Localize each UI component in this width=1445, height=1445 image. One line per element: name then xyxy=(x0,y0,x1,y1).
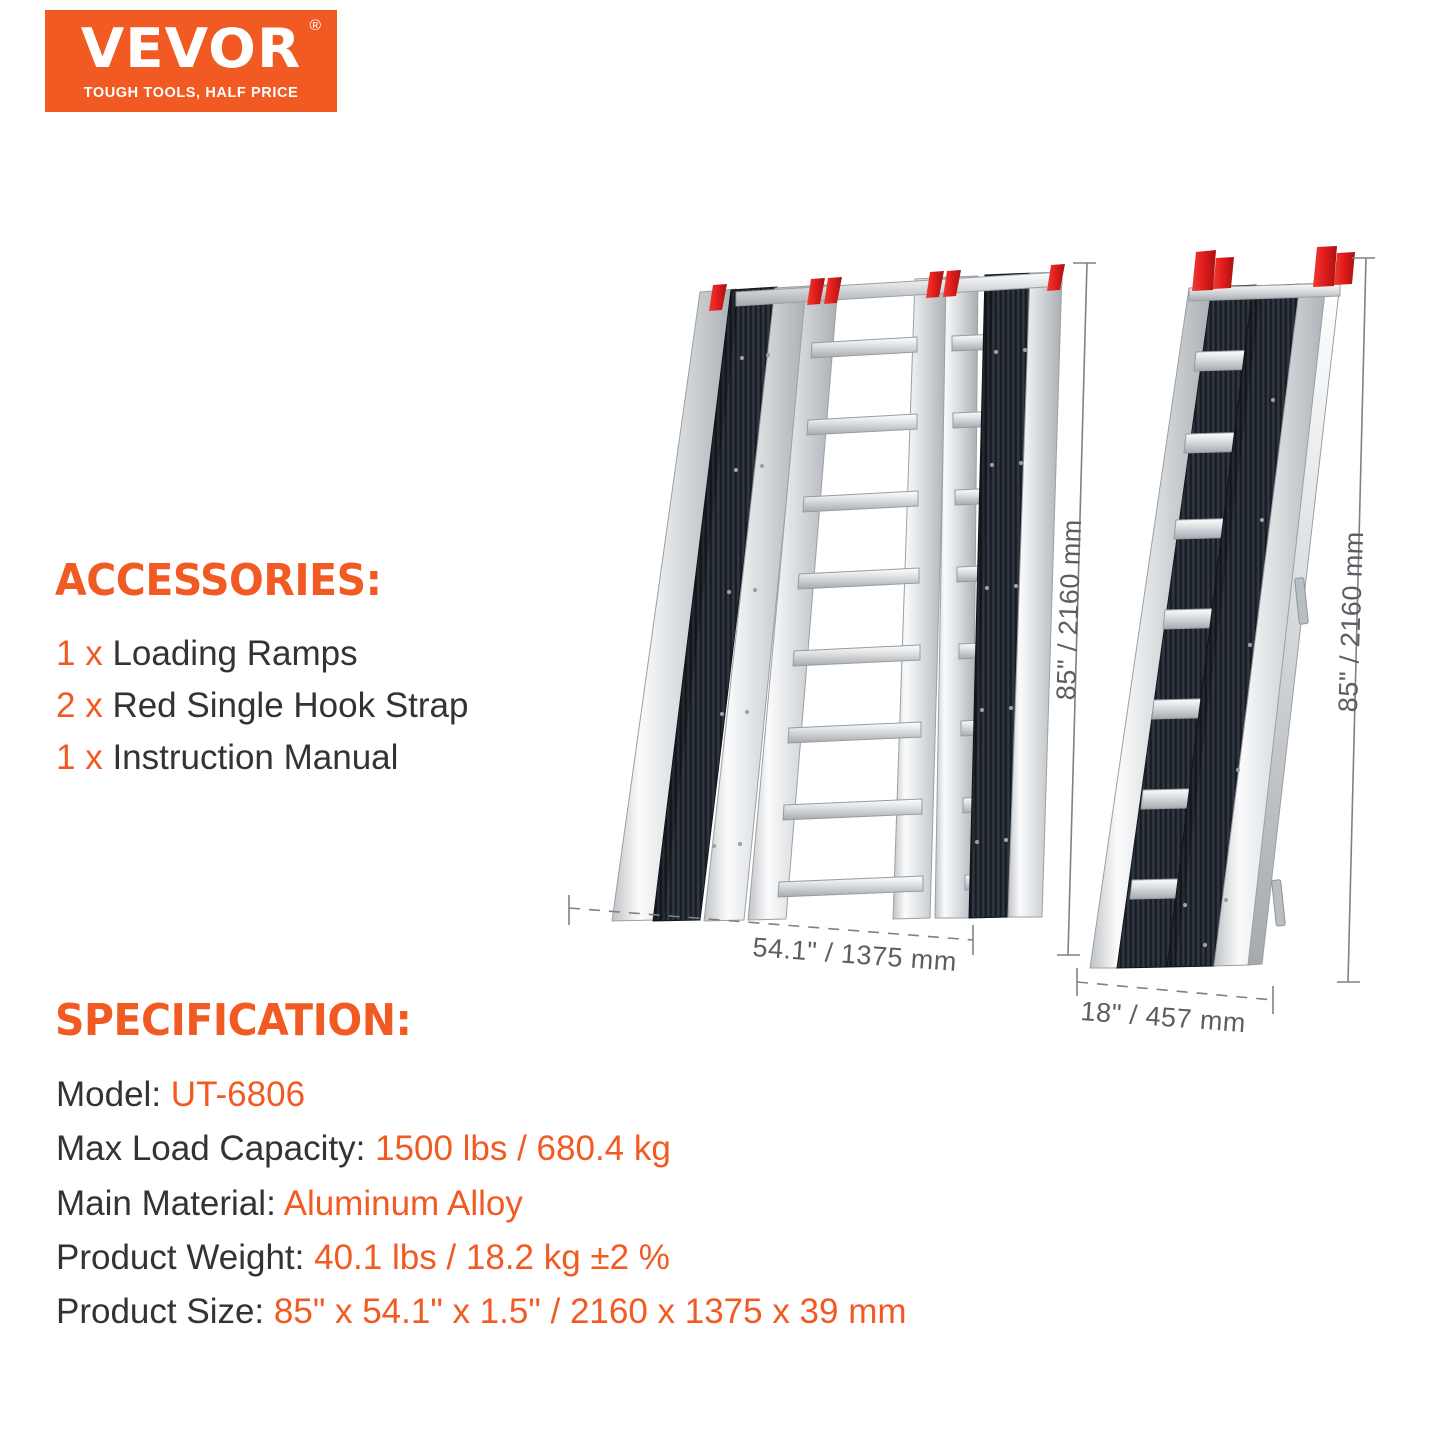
list-item: 1 x Loading Ramps xyxy=(56,628,676,680)
spec-label: Main Material: xyxy=(56,1184,276,1223)
spec-row: Model: UT-6806 xyxy=(56,1068,1156,1122)
spec-value: Aluminum Alloy xyxy=(284,1184,523,1223)
spec-row: Max Load Capacity: 1500 lbs / 680.4 kg xyxy=(56,1122,1156,1176)
folded-width-label: 18" / 457 mm xyxy=(1080,996,1247,1038)
accessories-heading: ACCESSORIES: xyxy=(55,555,382,606)
brand-name: VEVOR® xyxy=(81,22,301,76)
dimension-lines xyxy=(569,258,1375,1014)
spec-value: 1500 lbs / 680.4 kg xyxy=(375,1129,671,1168)
list-item: 1 x Instruction Manual xyxy=(56,732,676,784)
ramp-unfolded-view xyxy=(612,264,1065,921)
specification-list: Model: UT-6806 Max Load Capacity: 1500 l… xyxy=(56,1068,1156,1339)
accessory-name: Red Single Hook Strap xyxy=(112,686,468,725)
spec-row: Product Size: 85" x 54.1" x 1.5" / 2160 … xyxy=(56,1285,1156,1339)
spec-value: 40.1 lbs / 18.2 kg ±2 % xyxy=(314,1238,670,1277)
red-hook-icon xyxy=(709,264,1065,311)
spec-label: Product Size: xyxy=(56,1292,264,1331)
list-item: 2 x Red Single Hook Strap xyxy=(56,680,676,732)
ramp-folded-view xyxy=(1090,246,1355,968)
accessory-name: Loading Ramps xyxy=(112,634,357,673)
accessories-list: 1 x Loading Ramps 2 x Red Single Hook St… xyxy=(56,628,676,784)
accessory-name: Instruction Manual xyxy=(112,738,398,777)
accessory-qty: 1 x xyxy=(56,738,103,777)
spec-row: Product Weight: 40.1 lbs / 18.2 kg ±2 % xyxy=(56,1231,1156,1285)
accessory-qty: 2 x xyxy=(56,686,103,725)
spec-label: Model: xyxy=(56,1075,161,1114)
registered-trademark-icon: ® xyxy=(309,18,322,33)
unfolded-height-label: 85" / 2160 mm xyxy=(1051,519,1087,701)
folded-height-label: 85" / 2160 mm xyxy=(1333,531,1369,713)
brand-logo: VEVOR® TOUGH TOOLS, HALF PRICE xyxy=(45,10,337,112)
brand-name-text: VEVOR xyxy=(81,17,301,80)
brand-tagline: TOUGH TOOLS, HALF PRICE xyxy=(84,85,299,101)
spec-value: UT-6806 xyxy=(171,1075,305,1114)
spec-value: 85" x 54.1" x 1.5" / 2160 x 1375 x 39 mm xyxy=(274,1292,907,1331)
red-hook-icon xyxy=(1192,246,1355,291)
hinge-icon xyxy=(1272,578,1309,927)
accessory-qty: 1 x xyxy=(56,634,103,673)
specification-heading: SPECIFICATION: xyxy=(55,995,411,1046)
spec-label: Product Weight: xyxy=(56,1238,304,1277)
spec-row: Main Material: Aluminum Alloy xyxy=(56,1177,1156,1231)
spec-label: Max Load Capacity: xyxy=(56,1129,365,1168)
product-infographic: VEVOR® TOUGH TOOLS, HALF PRICE xyxy=(0,0,1445,1445)
unfolded-width-label: 54.1" / 1375 mm xyxy=(752,932,958,977)
